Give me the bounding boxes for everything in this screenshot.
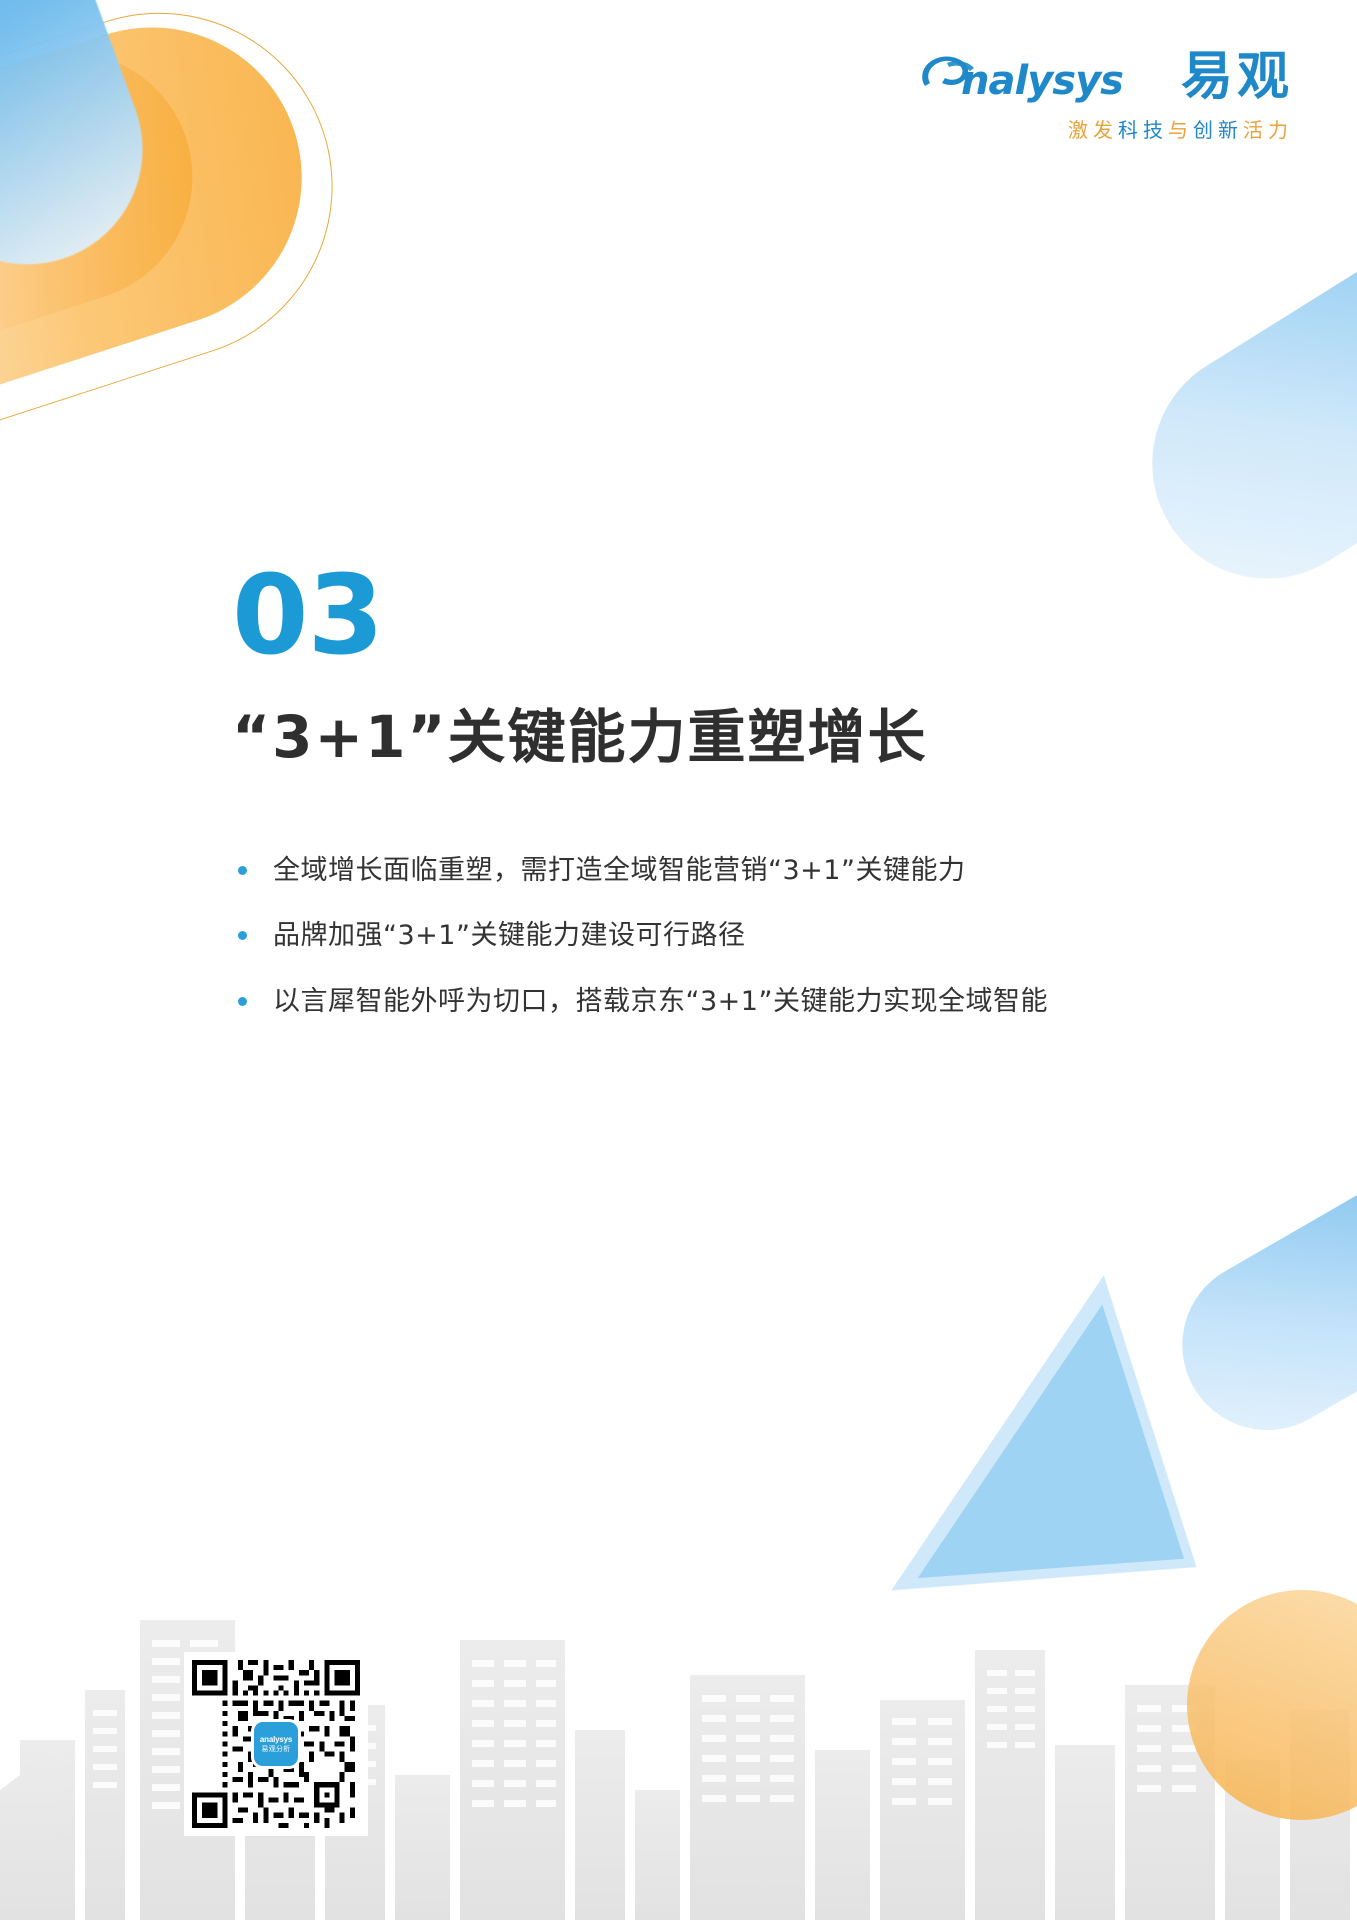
logo-chinese-name: 易观 — [1181, 51, 1293, 103]
top-left-orange-outline — [0, 0, 378, 511]
analysys-wordmark-icon: nalysys — [917, 46, 1167, 108]
section-content: 03 “3+1”关键能力重塑增长 全域增长面临重塑，需打造全域智能营销“3+1”… — [232, 560, 1232, 1046]
top-left-orange-shape — [0, 0, 341, 472]
section-number: 03 — [232, 560, 1232, 670]
slide-page: nalysys 易观 激发科技与创新活力 03 “3+1”关键能力重塑增长 全域… — [0, 0, 1357, 1920]
bottom-right-triangle-inner — [918, 1304, 1277, 1695]
list-item-label: 全域增长面临重塑，需打造全域智能营销“3+1”关键能力 — [273, 849, 965, 893]
qr-badge-line2: 易观分析 — [261, 1746, 290, 1753]
section-title: “3+1”关键能力重塑增长 — [232, 704, 1232, 771]
bottom-right-orange-circle — [1187, 1590, 1357, 1820]
bottom-right-blue-shape — [1151, 1189, 1357, 1461]
qr-badge-line1: analysys — [260, 1736, 292, 1744]
list-item: 以言犀智能外呼为切口，搭载京东“3+1”关键能力实现全域智能 — [232, 980, 1232, 1024]
svg-text:nalysys: nalysys — [961, 58, 1123, 104]
bullet-list: 全域增长面临重塑，需打造全域智能营销“3+1”关键能力 品牌加强“3+1”关键能… — [232, 849, 1232, 1024]
bullet-dot-icon — [238, 931, 247, 940]
bullet-dot-icon — [238, 866, 247, 875]
list-item-label: 以言犀智能外呼为切口，搭载京东“3+1”关键能力实现全域智能 — [273, 980, 1048, 1024]
top-left-orange-shape-inner — [0, 20, 225, 431]
list-item-label: 品牌加强“3+1”关键能力建设可行路径 — [273, 914, 745, 958]
list-item: 全域增长面临重塑，需打造全域智能营销“3+1”关键能力 — [232, 849, 1232, 893]
logo-tagline: 激发科技与创新活力 — [917, 120, 1293, 140]
bullet-dot-icon — [238, 997, 247, 1006]
bottom-right-triangle-outer — [891, 1275, 1302, 1724]
list-item: 品牌加强“3+1”关键能力建设可行路径 — [232, 914, 1232, 958]
top-left-blue-shape — [0, 0, 175, 297]
qr-center-badge: analysys 易观分析 — [254, 1722, 298, 1766]
qr-code[interactable]: analysys 易观分析 — [184, 1652, 368, 1836]
analysys-logo: nalysys 易观 激发科技与创新活力 — [917, 46, 1293, 140]
